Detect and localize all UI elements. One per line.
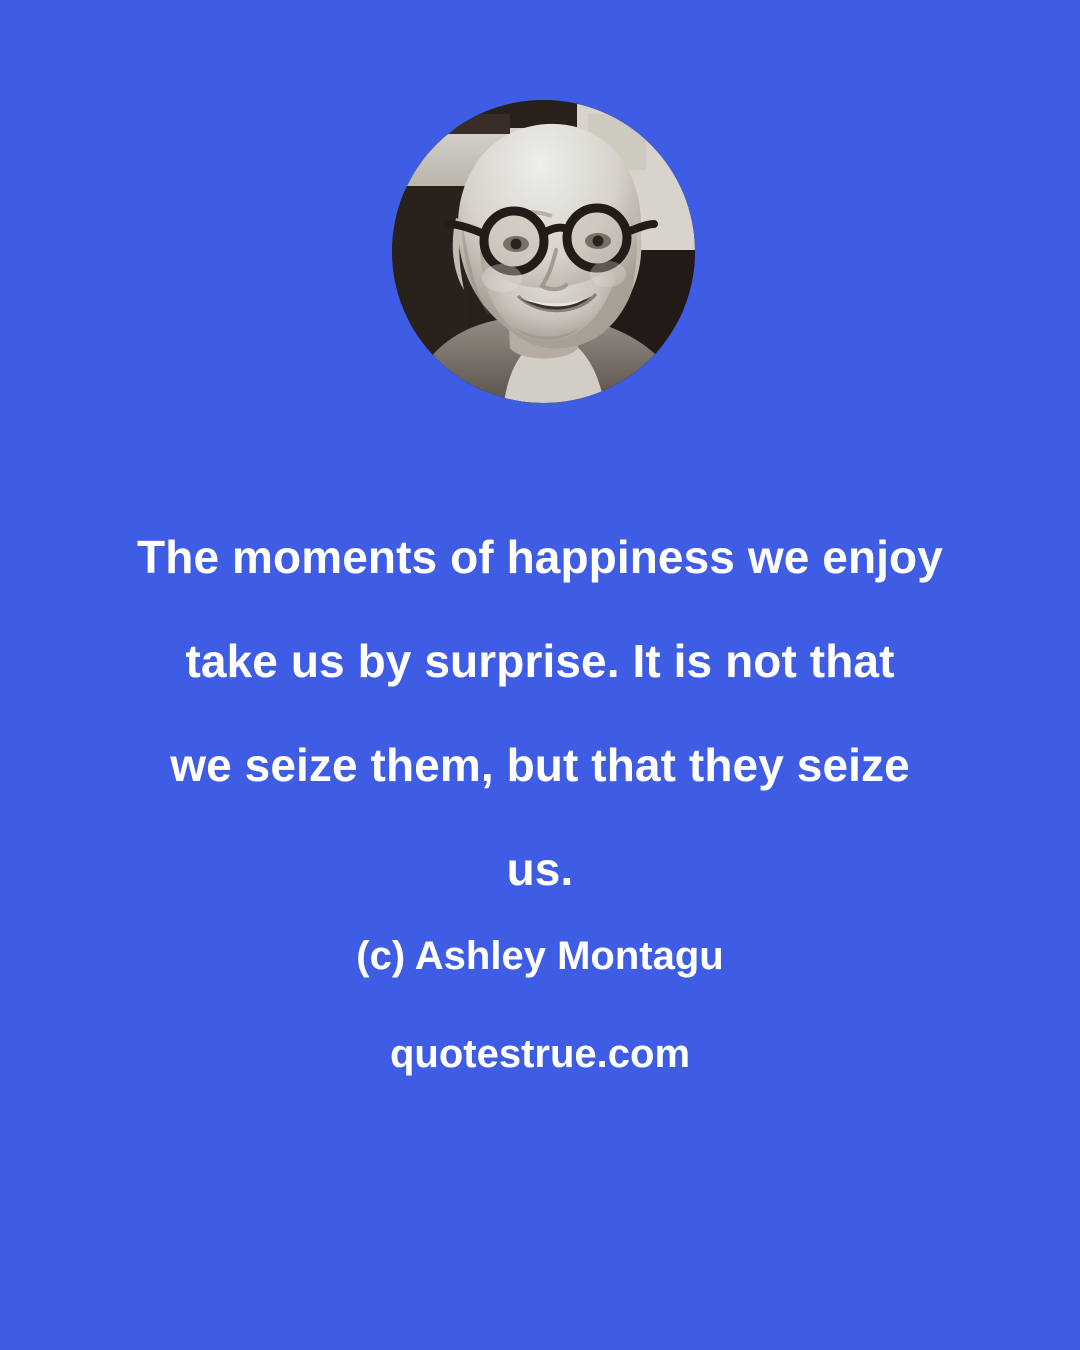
author-portrait-photo [392,100,695,403]
quote-line: The moments of happiness we enjoy [0,505,1080,609]
quote-line: take us by surprise. It is not that [0,609,1080,713]
quote-line: us. [0,817,1080,921]
quote-line: we seize them, but that they seize [0,713,1080,817]
quote-card: The moments of happiness we enjoy take u… [0,0,1080,1350]
source-website[interactable]: quotestrue.com [0,1026,1080,1082]
quote-author: (c) Ashley Montagu [0,928,1080,984]
author-portrait [392,100,695,403]
quote-text: The moments of happiness we enjoy take u… [0,505,1080,921]
attribution: (c) Ashley Montagu quotestrue.com [0,928,1080,1082]
